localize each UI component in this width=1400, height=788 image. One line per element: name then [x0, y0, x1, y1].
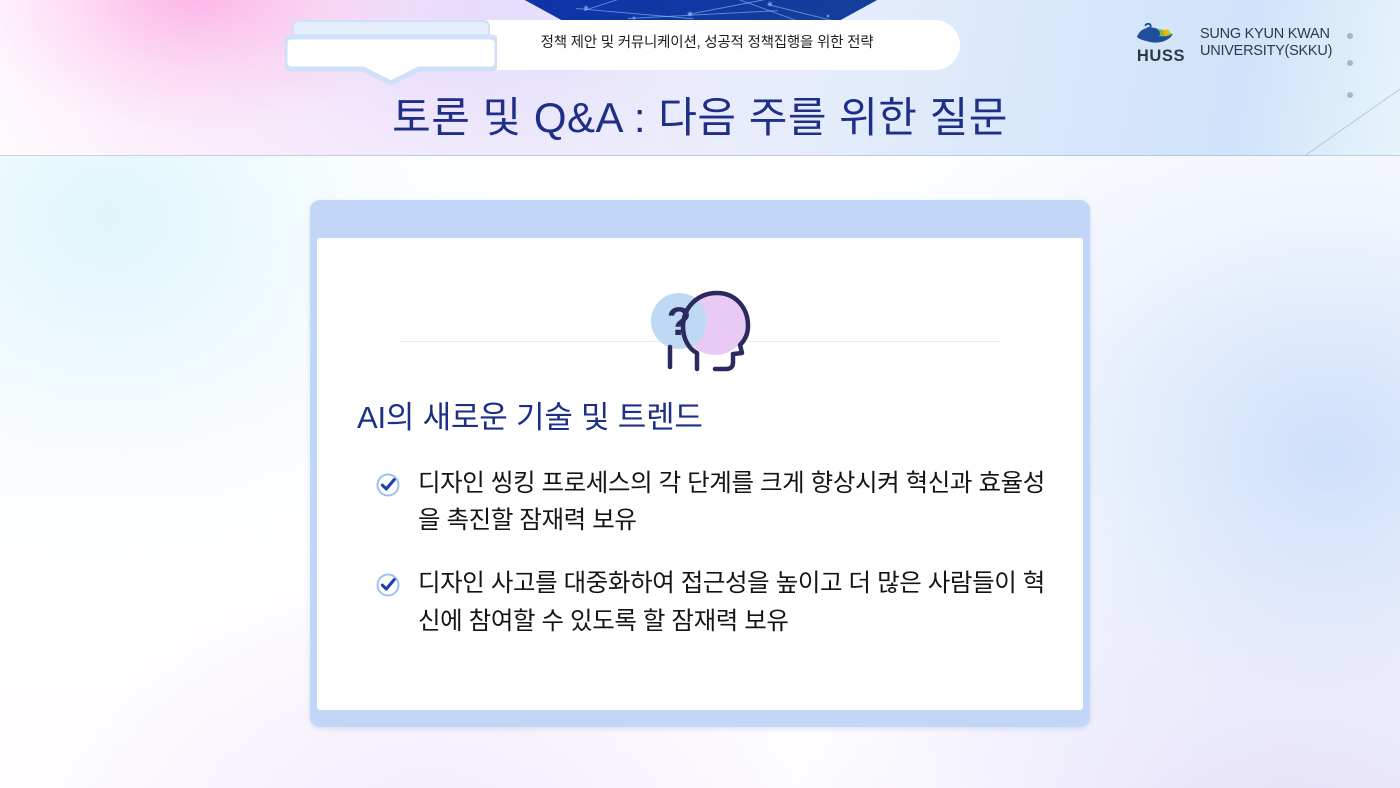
decorative-dot — [1347, 60, 1353, 66]
network-graphic-banner — [522, 0, 880, 22]
huss-logo-mark: HUSS — [1133, 22, 1189, 65]
banner-caption-text: 정책 제안 및 커뮤니케이션, 성공적 정책집행을 위한 전략 — [519, 34, 896, 54]
question-mark-glyph: ? — [667, 300, 691, 344]
logo-university-name: SUNG KYUN KWAN UNIVERSITY(SKKU) — [1200, 26, 1332, 61]
list-item: 디자인 씽킹 프로세스의 각 단계를 크게 향상시켜 혁신과 효율성을 촉진할 … — [357, 465, 1057, 539]
bullet-list: 디자인 씽킹 프로세스의 각 단계를 크게 향상시켜 혁신과 효율성을 촉진할 … — [357, 465, 1057, 640]
slide-title: 토론 및 Q&A : 다음 주를 위한 질문 — [0, 84, 1400, 145]
check-circle-icon — [375, 472, 401, 498]
speech-banner-decoration — [285, 17, 497, 87]
decorative-dot — [1347, 92, 1353, 98]
card-heading: AI의 새로운 기술 및 트렌드 — [357, 392, 1057, 437]
thinking-head-question-icon: ? — [645, 283, 757, 375]
card-content: AI의 새로운 기술 및 트렌드 디자인 씽킹 프로세스의 각 단계를 크게 향… — [357, 392, 1057, 640]
skku-huss-logo: HUSS SUNG KYUN KWAN UNIVERSITY(SKKU) — [1133, 22, 1332, 65]
check-circle-icon — [375, 572, 401, 598]
logo-university-line-2: UNIVERSITY(SKKU) — [1200, 43, 1332, 61]
header-divider-line — [0, 155, 1400, 156]
list-item: 디자인 사고를 대중화하여 접근성을 높이고 더 많은 사람들이 혁신에 참여할… — [357, 565, 1057, 639]
presentation-slide: 정책 제안 및 커뮤니케이션, 성공적 정책집행을 위한 전략 HUSS SUN… — [0, 0, 1400, 788]
logo-huss-text: HUSS — [1133, 48, 1189, 65]
decorative-dot — [1347, 33, 1353, 39]
logo-university-line-1: SUNG KYUN KWAN — [1200, 26, 1332, 44]
list-item-text: 디자인 사고를 대중화하여 접근성을 높이고 더 많은 사람들이 혁신에 참여할… — [418, 565, 1057, 639]
banner-caption-pill: 정책 제안 및 커뮤니케이션, 성공적 정책집행을 위한 전략 — [454, 20, 960, 70]
list-item-text: 디자인 씽킹 프로세스의 각 단계를 크게 향상시켜 혁신과 효율성을 촉진할 … — [418, 465, 1057, 539]
